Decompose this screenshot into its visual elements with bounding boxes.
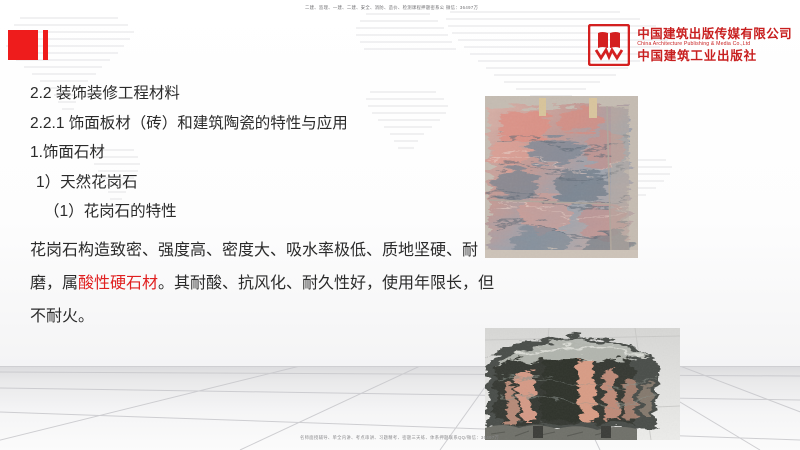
photo-granite-slab-wall (485, 96, 638, 258)
body-paragraph: 花岗石构造致密、强度高、密度大、吸水率极低、质地坚硬、耐磨，属酸性硬石材。其耐酸… (30, 234, 500, 333)
decoration-red-bar (43, 30, 48, 60)
publisher-imprint-cn: 中国建筑工业出版社 (637, 49, 792, 62)
watermark-text-top: 二建、监理、一建、二建、安全、消防、造价、检测课程押题密系公 微信：36497万 (305, 5, 478, 11)
paragraph-highlight: 酸性硬石材 (78, 275, 158, 292)
watermark-text-bottom: 名师面授辅导、单全内讲、考点串讲、习题精考、密题三天练、体系押题联系QQ/微信：… (300, 435, 499, 441)
list-item-1: 1.饰面石材 (30, 145, 490, 161)
list-item-1-1: 1）天然花岗石 (30, 175, 490, 191)
publisher-company-cn: 中国建筑出版传媒有限公司 (637, 28, 792, 41)
decoration-red-block (8, 30, 38, 60)
publisher-logo-text: 中国建筑出版传媒有限公司 China Architecture Publishi… (637, 28, 792, 63)
subsection-title: 2.2.1 饰面板材（砖）和建筑陶瓷的特性与应用 (30, 116, 490, 132)
floor-horizon-line (0, 366, 800, 367)
section-title: 2.2 装饰装修工程材料 (30, 86, 490, 102)
photo-granite-boulder (485, 328, 680, 440)
slide-content: 2.2 装饰装修工程材料 2.2.1 饰面板材（砖）和建筑陶瓷的特性与应用 1.… (30, 86, 490, 333)
publisher-company-en: China Architecture Publishing & Media Co… (637, 42, 792, 47)
list-item-1-1-1: （1）花岗石的特性 (30, 204, 490, 220)
publisher-logo-icon (588, 24, 630, 66)
slide-canvas: 二建、监理、一建、二建、安全、消防、造价、检测课程押题密系公 微信：36497万… (0, 0, 800, 450)
publisher-logo: 中国建筑出版传媒有限公司 China Architecture Publishi… (588, 24, 792, 66)
